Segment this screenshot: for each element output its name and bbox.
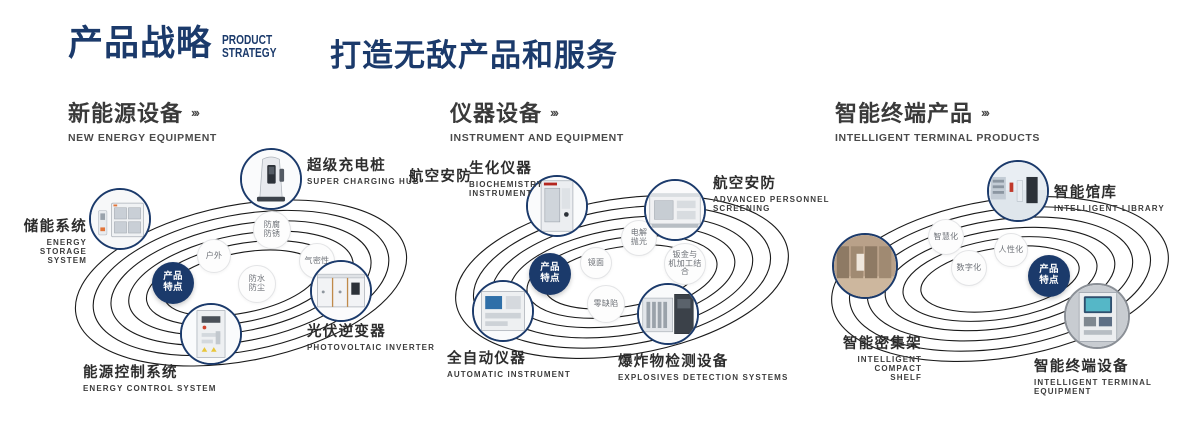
label-cn: 全自动仪器 — [447, 347, 571, 368]
label-en: BIOCHEMISTRY INSTRUMENT — [469, 180, 543, 198]
label-aviation-security-left: 航空安防 — [382, 165, 472, 188]
label-automatic-instrument: 全自动仪器 AUTOMATIC INSTRUMENT — [447, 347, 571, 379]
label-cn: 能源控制系统 — [83, 361, 217, 382]
feature-bubble[interactable]: 钣金与 机加工结合 — [664, 243, 706, 285]
photo-bubble-explosives-detection[interactable] — [637, 283, 699, 345]
section-title-en: INSTRUMENT AND EQUIPMENT — [450, 132, 624, 144]
section-title-cn: 智能终端产品 — [835, 96, 973, 128]
title-cn: 产品战略 — [68, 26, 212, 61]
section-header-terminal: 智能终端产品››› INTELLIGENT TERMINAL PRODUCTS — [835, 96, 1040, 144]
label-intelligent-library: 智能馆库 INTELLIGENT LIBRARY — [1054, 181, 1165, 213]
cluster-new-energy: 产品 特点 户外 防腐 防锈 防水 防尘 气密性 — [45, 155, 445, 405]
label-en: INTELLIGENT LIBRARY — [1054, 204, 1165, 213]
label-cn: 航空安防 — [382, 165, 472, 186]
label-biochemistry: 生化仪器 BIOCHEMISTRY INSTRUMENT — [469, 157, 543, 198]
feature-bubble[interactable]: 镜面 — [580, 247, 612, 279]
photo-bubble-charging-hub[interactable] — [240, 148, 302, 210]
photo-bubble-terminal-equipment[interactable] — [1064, 283, 1130, 349]
label-cn: 储能系统 — [0, 215, 87, 236]
poster-slogan: 打造无敌产品和服务 — [330, 30, 618, 75]
security-scanner-icon — [646, 181, 704, 239]
label-en: INTELLIGENT COMPACT SHELF — [807, 355, 922, 382]
label-energy-storage: 储能系统 ENERGY STORAGE SYSTEM — [0, 215, 87, 265]
compact-shelf-icon — [834, 235, 896, 297]
feature-bubble[interactable]: 户外 — [197, 239, 231, 273]
label-cn: 智能馆库 — [1054, 181, 1165, 202]
feature-bubble[interactable]: 防水 防尘 — [238, 265, 276, 303]
section-header-new-energy: 新能源设备››› NEW ENERGY EQUIPMENT — [68, 96, 217, 144]
label-energy-control: 能源控制系统 ENERGY CONTROL SYSTEM — [83, 361, 217, 393]
label-en: EXPLOSIVES DETECTION SYSTEMS — [618, 373, 788, 382]
label-pv-inverter: 光伏逆变器 PHOTOVOLTAIC INVERTER — [307, 320, 435, 352]
automatic-analyzer-icon — [474, 282, 532, 340]
label-en: AUTOMATIC INSTRUMENT — [447, 370, 571, 379]
library-interior-icon — [989, 162, 1047, 220]
label-cn: 智能终端设备 — [1034, 355, 1200, 376]
label-cn: 生化仪器 — [469, 157, 543, 178]
section-title-en: NEW ENERGY EQUIPMENT — [68, 132, 217, 144]
chevrons-icon: ››› — [191, 105, 198, 120]
label-en: ENERGY CONTROL SYSTEM — [83, 384, 217, 393]
cluster-instrument: 产品 特点 镜面 电解 抛光 钣金与 机加工结合 零缺陷 — [432, 155, 832, 405]
kiosk-terminal-icon — [1066, 285, 1128, 347]
energy-storage-cabinet-icon — [91, 190, 149, 248]
section-title-cn: 仪器设备 — [450, 96, 542, 128]
label-explosives-detection: 爆炸物检测设备 EXPLOSIVES DETECTION SYSTEMS — [618, 350, 788, 382]
label-cn: 智能密集架 — [807, 332, 922, 353]
feature-bubble[interactable]: 数字化 — [951, 250, 987, 286]
feature-core-bubble[interactable]: 产品 特点 — [529, 253, 571, 295]
photo-bubble-energy-control[interactable] — [180, 303, 242, 365]
photo-bubble-compact-shelf[interactable] — [832, 233, 898, 299]
chevrons-icon: ››› — [550, 105, 557, 120]
photo-bubble-pv-inverter[interactable] — [310, 260, 372, 322]
feature-core-bubble[interactable]: 产品 特点 — [1028, 255, 1070, 297]
detection-rack-icon — [639, 285, 697, 343]
feature-core-bubble[interactable]: 产品 特点 — [152, 262, 194, 304]
feature-bubble[interactable]: 零缺陷 — [587, 285, 625, 323]
feature-bubble[interactable]: 人性化 — [994, 233, 1028, 267]
label-cn: 爆炸物检测设备 — [618, 350, 788, 371]
label-en: INTELLIGENT TERMINAL EQUIPMENT — [1034, 378, 1200, 396]
charging-pile-icon — [242, 150, 300, 208]
label-en: PHOTOVOLTAIC INVERTER — [307, 343, 435, 352]
photo-bubble-energy-storage[interactable] — [89, 188, 151, 250]
label-en: ENERGY STORAGE SYSTEM — [0, 238, 87, 265]
feature-bubble[interactable]: 防腐 防锈 — [253, 211, 291, 249]
photo-bubble-intelligent-library[interactable] — [987, 160, 1049, 222]
title-en: PRODUCT STRATEGY — [222, 33, 276, 60]
photo-bubble-automatic-instrument[interactable] — [472, 280, 534, 342]
poster-title: 产品战略 PRODUCT STRATEGY — [68, 26, 292, 61]
feature-bubble[interactable]: 智慧化 — [928, 219, 964, 255]
chevrons-icon: ››› — [981, 105, 988, 120]
inverter-cabinet-icon — [312, 262, 370, 320]
label-cn: 光伏逆变器 — [307, 320, 435, 341]
poster-canvas: 产品战略 PRODUCT STRATEGY 打造无敌产品和服务 新能源设备›››… — [0, 0, 1200, 422]
section-header-instrument: 仪器设备››› INSTRUMENT AND EQUIPMENT — [450, 96, 624, 144]
label-terminal-equipment: 智能终端设备 INTELLIGENT TERMINAL EQUIPMENT — [1034, 355, 1200, 396]
section-title-en: INTELLIGENT TERMINAL PRODUCTS — [835, 132, 1040, 144]
section-title-cn: 新能源设备 — [68, 96, 183, 128]
cluster-intelligent-terminal: 智慧化 数字化 人性化 产品 特点 — [812, 155, 1200, 405]
photo-bubble-screening[interactable] — [644, 179, 706, 241]
label-compact-shelf: 智能密集架 INTELLIGENT COMPACT SHELF — [807, 332, 922, 382]
control-cabinet-icon — [182, 305, 240, 363]
